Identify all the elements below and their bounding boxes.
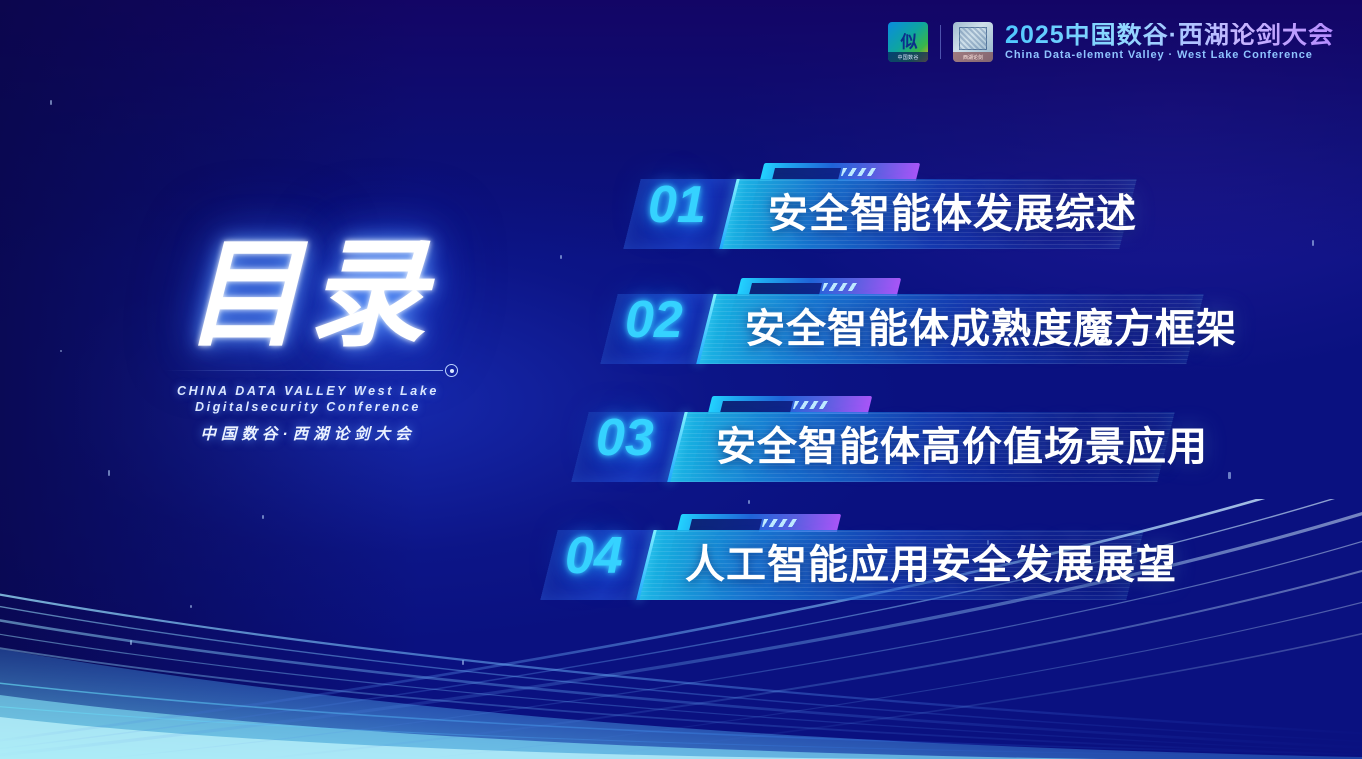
agenda-number: 03	[596, 412, 654, 464]
agenda-label: 安全智能体发展综述	[768, 185, 1137, 243]
bar-cap-ticks-icon	[841, 168, 877, 176]
agenda-number: 04	[565, 530, 623, 582]
agenda-list: 01 安全智能体发展综述 02 安全智能体成熟	[0, 0, 1362, 759]
agenda-number: 01	[648, 179, 706, 231]
presentation-slide: 似 中国数谷 西湖论剑 2025中国数谷·西湖论剑大会 China Data-e…	[0, 0, 1362, 759]
bar-cap-ticks-icon	[793, 401, 829, 409]
agenda-bar: 人工智能应用安全发展展望	[645, 514, 1135, 600]
agenda-bar: 安全智能体成熟度魔方框架	[705, 278, 1195, 364]
agenda-label: 安全智能体高价值场景应用	[716, 418, 1208, 476]
agenda-bar: 安全智能体高价值场景应用	[676, 396, 1166, 482]
agenda-number: 02	[625, 294, 683, 346]
bar-cap-ticks-icon	[762, 519, 798, 527]
agenda-bar: 安全智能体发展综述	[728, 163, 1128, 249]
agenda-label: 人工智能应用安全发展展望	[685, 536, 1177, 594]
agenda-label: 安全智能体成熟度魔方框架	[745, 300, 1237, 358]
bar-cap-ticks-icon	[822, 283, 858, 291]
